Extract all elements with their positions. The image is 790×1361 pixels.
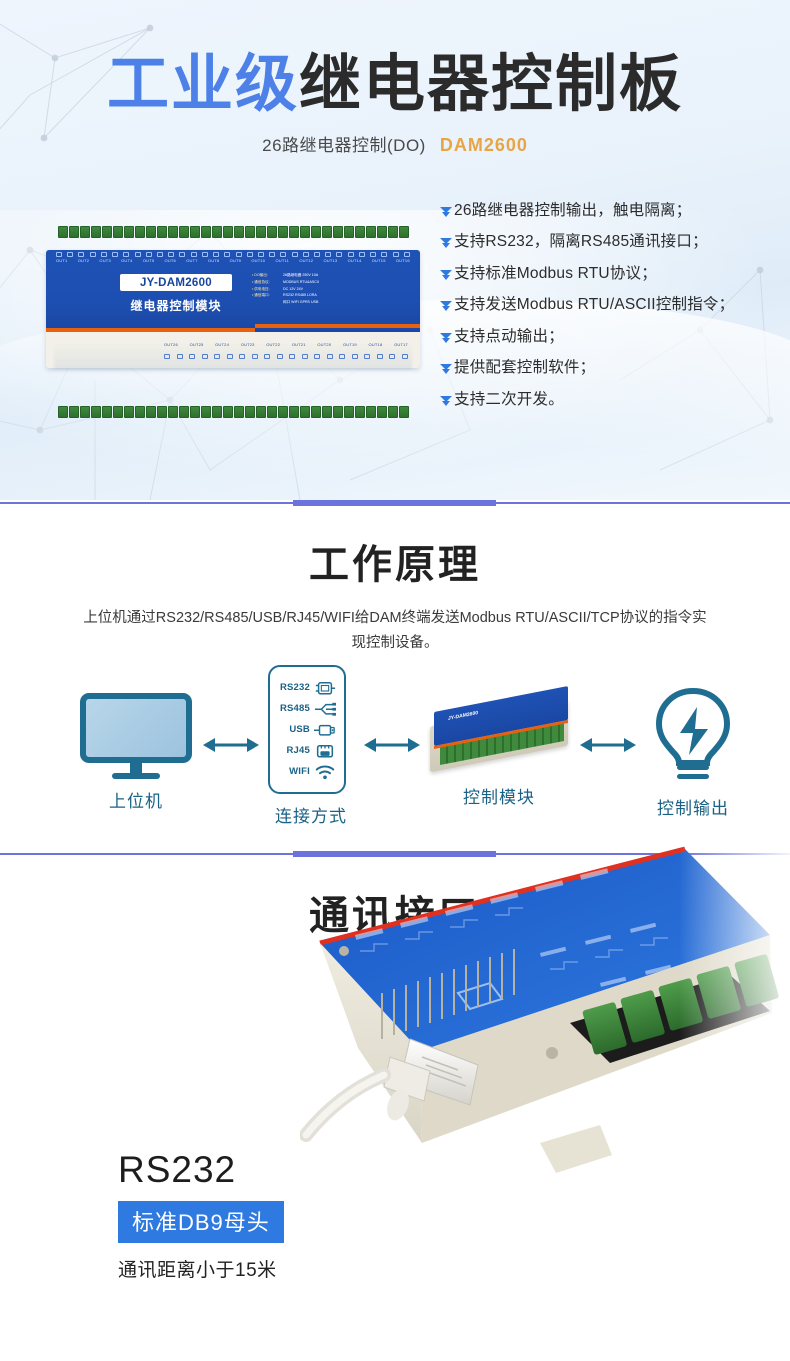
board-pin-row-top [56,252,410,257]
subtitle-text: 26路继电器控制(DO) [262,136,426,155]
arrow-conn-to-module-icon [364,735,420,755]
board-output-label: OUT16 [396,258,410,263]
page-subtitle: 26路继电器控制(DO)DAM2600 [0,131,790,156]
flow-label-host: 上位机 [76,787,196,812]
connection-label: RS232 [280,682,310,693]
board-output-label: OUT3 [99,258,110,263]
flow-node-host: 上位机 [76,693,196,812]
principle-section: 工作原理 上位机通过RS232/RS485/USB/RJ45/WIFI给DAM终… [0,506,790,851]
feature-item: 支持点动输出； [438,326,778,348]
board-spec-value: MODBUS RTU&ASCII [283,279,319,286]
page-title-rest: 继电器控制板 [299,50,683,119]
board-spec-value: 26路继电器 250V 10A [283,272,318,279]
chevron-double-down-icon [438,267,454,283]
feature-text: 支持标准Modbus RTU协议； [454,263,657,285]
chevron-double-down-icon [438,298,454,314]
board-reflection [54,342,412,370]
feature-item: 支持标准Modbus RTU协议； [438,263,778,285]
usb-icon [314,722,336,738]
board-spec-value: DC 12V 24V [283,286,303,293]
board-spec-key [252,299,283,306]
feature-item: 支持发送Modbus RTU/ASCII控制指令； [438,294,778,316]
board-output-label: OUT1 [56,258,67,263]
chevron-double-down-icon [438,235,454,251]
board-output-label: OUT5 [143,258,154,263]
connection-row-rs232: RS232 [270,677,344,698]
model-number: DAM2600 [440,135,528,155]
board-spec-row: • 通信协议:MODBUS RTU&ASCII [252,279,402,286]
flow-label-module: 控制模块 [424,783,574,808]
rs232-note: 通讯距离小于15米 [118,1255,284,1282]
feature-item: 支持二次开发。 [438,389,778,411]
arrow-host-to-conn-icon [203,735,259,755]
connection-row-rj45: RJ45 [270,740,344,761]
board-logo: JY-DAM2600 [120,274,232,291]
flow-node-output: 控制输出 [638,685,748,819]
feature-item: 提供配套控制软件； [438,357,778,379]
board-output-label: OUT11 [275,258,289,263]
board-output-label: OUT15 [372,258,386,263]
arrow-module-to-output-icon [580,735,636,755]
rs232-title: RS232 [118,1149,284,1191]
lightbulb-icon [650,685,736,781]
terminal-wires-icon [314,701,336,717]
chevron-double-down-icon [438,204,454,220]
feature-text: 支持点动输出； [454,326,564,348]
board-output-labels-top: OUT1OUT2OUT3OUT4OUT5OUT6OUT7OUT8OUT9OUT1… [56,258,410,263]
flow-node-module: JY-DAM2600 控制模块 [424,691,574,808]
feature-text: 支持RS232，隔离RS485通讯接口； [454,231,708,253]
board-output-label: OUT7 [186,258,197,263]
connection-row-wifi: WIFI [270,761,344,782]
board-spec-value: 网口 WIFI GPRS USB [283,299,318,306]
rs232-info-block: RS232 标准DB9母头 通讯距离小于15米 [118,1149,284,1282]
board-brand-cn: 继电器控制模块 [120,297,232,314]
connection-label: RS485 [280,703,310,714]
connection-label: WIFI [289,766,310,777]
chevron-double-down-icon [438,393,454,409]
connection-label: RJ45 [286,745,310,756]
ethernet-icon [314,743,336,759]
terminal-block-top [38,226,428,238]
board-output-label: OUT14 [348,258,362,263]
chevron-double-down-icon [438,361,454,377]
flow-node-connection: RS232RS485USBRJ45WIFI 连接方式 [268,665,354,827]
board-spec-key: • 供电电压: [252,286,283,293]
feature-text: 26路继电器控制输出，触电隔离； [454,200,691,222]
board-brand: JY-DAM2600 [140,277,212,289]
board-output-label: OUT8 [208,258,219,263]
flow-diagram: 上位机 RS232RS485USBRJ45WIFI 连接方式 [0,675,790,850]
connection-row-rs485: RS485 [270,698,344,719]
board-spec-list: • DO输出:26路继电器 250V 10A• 通信协议:MODBUS RTU&… [252,272,402,306]
rs232-badge: 标准DB9母头 [118,1201,284,1243]
board-output-label: OUT2 [78,258,89,263]
control-module-image: JY-DAM2600 [424,691,574,775]
board-spec-row: 网口 WIFI GPRS USB [252,299,402,306]
board-spec-row: • 通信端口:RS232 RS485 LORA [252,292,402,299]
page-title-highlight: 工业级 [107,50,299,119]
page-title: 工业级继电器控制板 [0,52,790,117]
interface-section: 通讯接口 [0,857,790,1360]
board-spec-key: • DO输出: [252,272,283,279]
connection-methods-box: RS232RS485USBRJ45WIFI [268,665,346,794]
chevron-double-down-icon [438,330,454,346]
feature-item: 26路继电器控制输出，触电隔离； [438,200,778,222]
feature-list: 26路继电器控制输出，触电隔离；支持RS232，隔离RS485通讯接口；支持标准… [438,200,778,420]
board-output-label: OUT12 [299,258,313,263]
feature-text: 提供配套控制软件； [454,357,595,379]
feature-text: 支持发送Modbus RTU/ASCII控制指令； [454,294,734,316]
board-spec-key: • 通信端口: [252,292,283,299]
rs232-product-photo [300,843,790,1263]
board-output-label: OUT4 [121,258,132,263]
board-spec-value: RS232 RS485 LORA [283,292,317,299]
terminal-block-bottom [38,406,428,418]
monitor-icon [80,693,192,779]
board-spec-row: • 供电电压:DC 12V 24V [252,286,402,293]
board-spec-key: • 通信协议: [252,279,283,286]
feature-item: 支持RS232，隔离RS485通讯接口； [438,231,778,253]
feature-text: 支持二次开发。 [454,389,564,411]
board-output-label: OUT6 [165,258,176,263]
wifi-icon [314,764,336,780]
flow-label-connection: 连接方式 [268,802,354,827]
hero-section: 工业级继电器控制板 26路继电器控制(DO)DAM2600 OUT1OUT2OU… [0,0,790,500]
connection-row-usb: USB [270,719,344,740]
db9-icon [314,680,336,696]
product-page: 工业级继电器控制板 26路继电器控制(DO)DAM2600 OUT1OUT2OU… [0,0,790,1361]
board-output-label: OUT9 [230,258,241,263]
principle-heading: 工作原理 [0,506,790,590]
board-output-label: OUT10 [251,258,265,263]
board-output-label: OUT13 [323,258,337,263]
connection-label: USB [289,724,310,735]
flow-label-output: 控制输出 [638,794,748,819]
principle-description: 上位机通过RS232/RS485/USB/RJ45/WIFI给DAM终端发送Mo… [0,606,790,655]
product-board-image: OUT1OUT2OUT3OUT4OUT5OUT6OUT7OUT8OUT9OUT1… [38,236,428,406]
board-spec-row: • DO输出:26路继电器 250V 10A [252,272,402,279]
